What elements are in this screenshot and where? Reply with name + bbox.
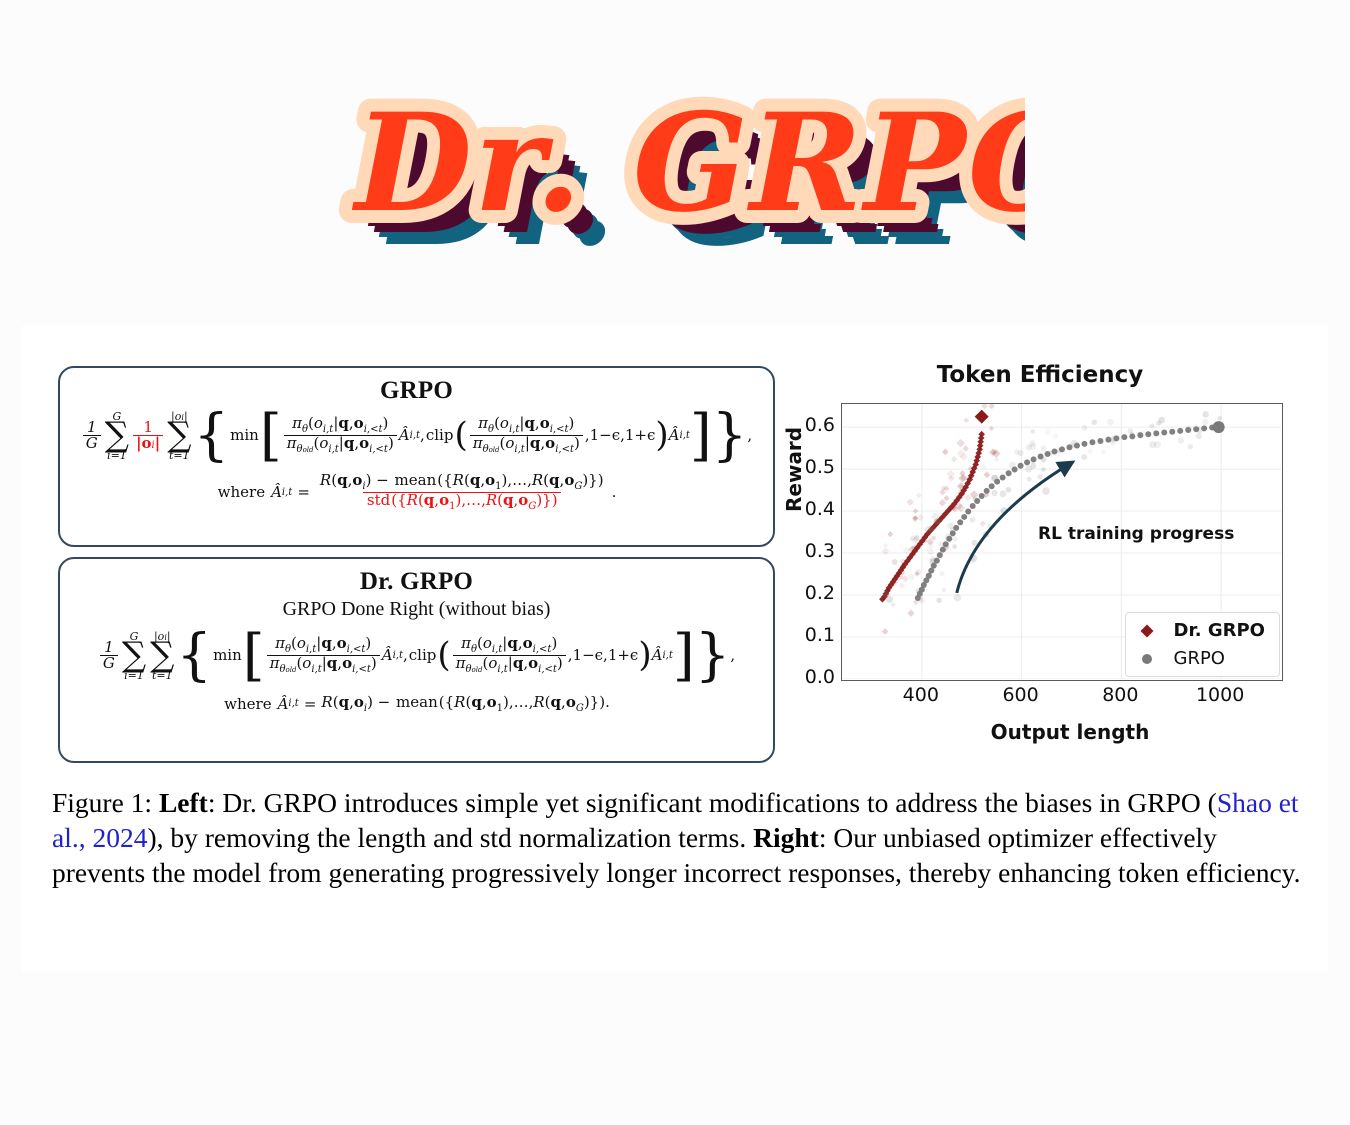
y-tick-label: 0.6 <box>779 414 835 436</box>
y-tick-label: 0.0 <box>779 666 835 688</box>
dr-grpo-where-clause: where Âi,t = R(q,oi) − mean({R(q,o1),…,R… <box>60 695 773 714</box>
chart-plot-area: RL training progress Dr. GRPO GRPO <box>841 403 1283 681</box>
chart-xlabel: Output length <box>840 720 1300 744</box>
x-tick-label: 600 <box>986 684 1056 706</box>
dr-grpo-formula-box: Dr. GRPO GRPO Done Right (without bias) … <box>58 557 775 763</box>
caption-right-label: Right <box>753 822 819 853</box>
grpo-formula-box: GRPO 1G G∑i=1 1|oi| |oi|∑t=1 { min [ πθ(… <box>58 366 775 547</box>
figure-caption: Figure 1: Left: Dr. GRPO introduces simp… <box>52 786 1310 891</box>
y-tick-label: 0.4 <box>779 498 835 520</box>
x-tick-label: 1000 <box>1185 684 1255 706</box>
y-tick-label: 0.1 <box>779 624 835 646</box>
dr-grpo-box-title: Dr. GRPO <box>60 568 773 596</box>
caption-left-text-a: : Dr. GRPO introduces simple yet signifi… <box>208 787 1217 818</box>
legend-item-grpo[interactable]: GRPO <box>1136 648 1266 669</box>
length-normalization-term: 1|oi| <box>133 420 163 453</box>
chart-title: Token Efficiency <box>790 362 1290 388</box>
grpo-where-clause: where Âi,t = R(q,oi) − mean({R(q,o1),…,R… <box>60 473 773 513</box>
x-tick-label: 800 <box>1085 684 1155 706</box>
token-efficiency-chart: Token Efficiency Reward Output length 0.… <box>790 362 1310 762</box>
logo-artwork: Dr. GRPO <box>325 60 1025 300</box>
dr-grpo-logo: Dr. GRPO <box>0 40 1350 320</box>
grpo-main-equation: 1G G∑i=1 1|oi| |oi|∑t=1 { min [ πθ(oi,t|… <box>60 411 773 461</box>
x-tick-label: 400 <box>886 684 956 706</box>
y-tick-label: 0.5 <box>779 456 835 478</box>
legend-label-dr-grpo: Dr. GRPO <box>1174 620 1266 641</box>
dr-grpo-main-equation: 1G G∑i=1 |oi|∑t=1 { min [ πθ(oi,t|q,oi,<… <box>60 631 773 681</box>
caption-left-text-b: ), by removing the length and std normal… <box>147 822 753 853</box>
figure-page: Dr. GRPO GR <box>0 0 1350 1125</box>
diamond-marker-icon <box>1136 623 1158 639</box>
caption-figure-label: Figure 1: <box>52 787 152 818</box>
circle-marker-icon <box>1136 651 1158 667</box>
y-tick-label: 0.3 <box>779 540 835 562</box>
rl-progress-annotation: RL training progress <box>1038 524 1234 544</box>
chart-legend[interactable]: Dr. GRPO GRPO <box>1125 612 1281 677</box>
logo-face <box>351 83 1025 242</box>
dr-grpo-box-subtitle: GRPO Done Right (without bias) <box>60 598 773 621</box>
legend-label-grpo: GRPO <box>1174 648 1225 669</box>
caption-left-label: Left <box>159 787 208 818</box>
std-normalization-term: std({R(q,o1),…,R(q,oG)}) <box>363 492 561 513</box>
legend-item-dr-grpo[interactable]: Dr. GRPO <box>1136 620 1266 641</box>
y-tick-label: 0.2 <box>779 582 835 604</box>
grpo-box-title: GRPO <box>60 377 773 405</box>
